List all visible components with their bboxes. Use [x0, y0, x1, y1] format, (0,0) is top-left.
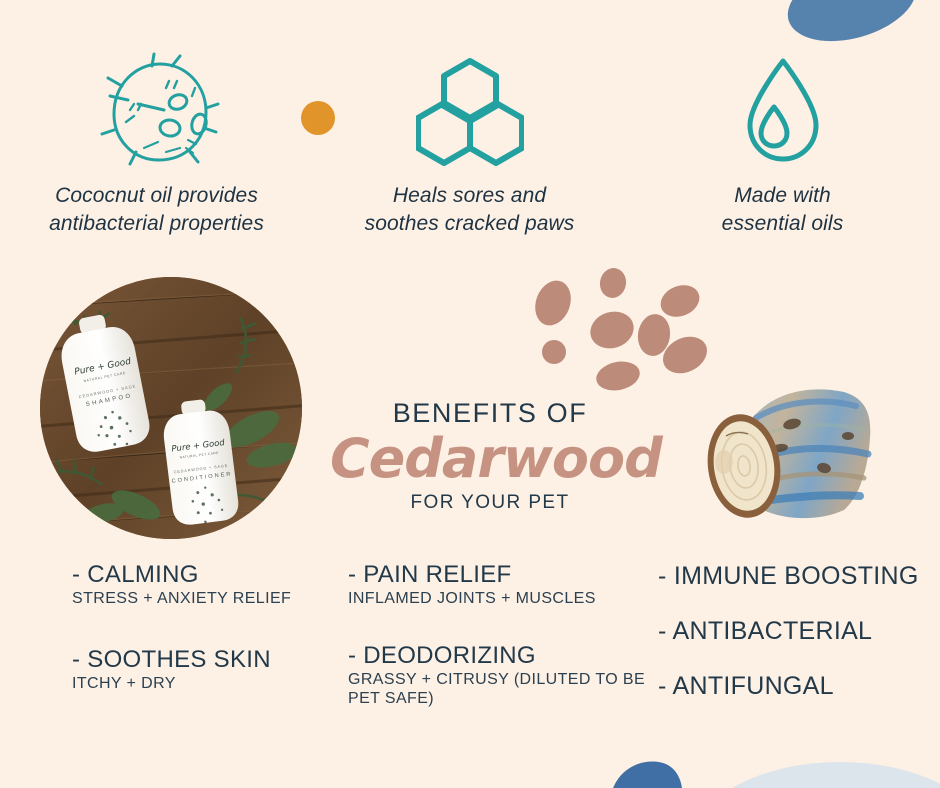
feature-honeycomb: Heals sores and soothes cracked paws — [313, 52, 626, 238]
honeycomb-icon — [416, 52, 524, 170]
infographic-canvas: Cococnut oil provides antibacterial prop… — [0, 0, 940, 788]
benefits-section: - CALMING STRESS + ANXIETY RELIEF - SOOT… — [0, 562, 940, 762]
benefit-heading: - DEODORIZING — [348, 643, 648, 670]
benefit-item: - ANTIBACTERIAL — [658, 617, 938, 645]
benefit-item: - ANTIFUNGAL — [658, 672, 938, 700]
feature-caption: Made with essential oils — [693, 182, 873, 238]
benefit-item: - IMMUNE BOOSTING — [658, 562, 938, 590]
benefit-heading: - CALMING — [72, 562, 352, 589]
benefit-heading: - ANTIFUNGAL — [658, 672, 938, 700]
title-kicker: BENEFITS OF — [330, 398, 650, 429]
benefit-heading: - PAIN RELIEF — [348, 562, 648, 589]
coconut-icon — [92, 52, 222, 170]
benefits-column-3: - IMMUNE BOOSTING - ANTIBACTERIAL - ANTI… — [658, 562, 938, 727]
cedarwood-log-illustration — [684, 372, 880, 532]
benefit-heading: - SOOTHES SKIN — [72, 647, 352, 674]
water-droplet-icon — [740, 52, 826, 170]
benefit-item: - PAIN RELIEF INFLAMED JOINTS + MUSCLES — [348, 562, 648, 609]
benefit-detail: ITCHY + DRY — [72, 675, 352, 694]
benefits-column-2: - PAIN RELIEF INFLAMED JOINTS + MUSCLES … — [348, 562, 648, 742]
benefit-heading: - IMMUNE BOOSTING — [658, 562, 938, 590]
feature-essential-oils: Made with essential oils — [626, 52, 939, 238]
title-subtitle: FOR YOUR PET — [330, 492, 650, 514]
feature-caption: Heals sores and soothes cracked paws — [365, 182, 575, 238]
benefit-item: - DEODORIZING GRASSY + CITRUSY (DILUTED … — [348, 643, 648, 709]
blue-blob-top-right — [779, 0, 926, 55]
benefit-item: - CALMING STRESS + ANXIETY RELIEF — [72, 562, 352, 609]
benefits-column-1: - CALMING STRESS + ANXIETY RELIEF - SOOT… — [72, 562, 352, 732]
scattered-rose-dots — [528, 266, 698, 396]
feature-caption: Cococnut oil provides antibacterial prop… — [12, 182, 302, 238]
benefit-item: - SOOTHES SKIN ITCHY + DRY — [72, 647, 352, 694]
benefit-heading: - ANTIBACTERIAL — [658, 617, 938, 645]
title-block: BENEFITS OF Cedarwood FOR YOUR PET — [330, 398, 650, 514]
benefit-detail: INFLAMED JOINTS + MUSCLES — [348, 590, 648, 609]
feature-row: Cococnut oil provides antibacterial prop… — [0, 52, 940, 238]
benefit-detail: STRESS + ANXIETY RELIEF — [72, 590, 352, 609]
pale-blue-blob-bottom-right — [690, 762, 940, 788]
feature-coconut: Cococnut oil provides antibacterial prop… — [0, 52, 313, 238]
title-script: Cedarwood — [330, 431, 650, 488]
benefit-detail: GRASSY + CITRUSY (DILUTED TO BE PET SAFE… — [348, 671, 648, 709]
product-bottles-photo: Pure + Good NATURAL PET CARE CEDARWOOD +… — [40, 277, 302, 539]
